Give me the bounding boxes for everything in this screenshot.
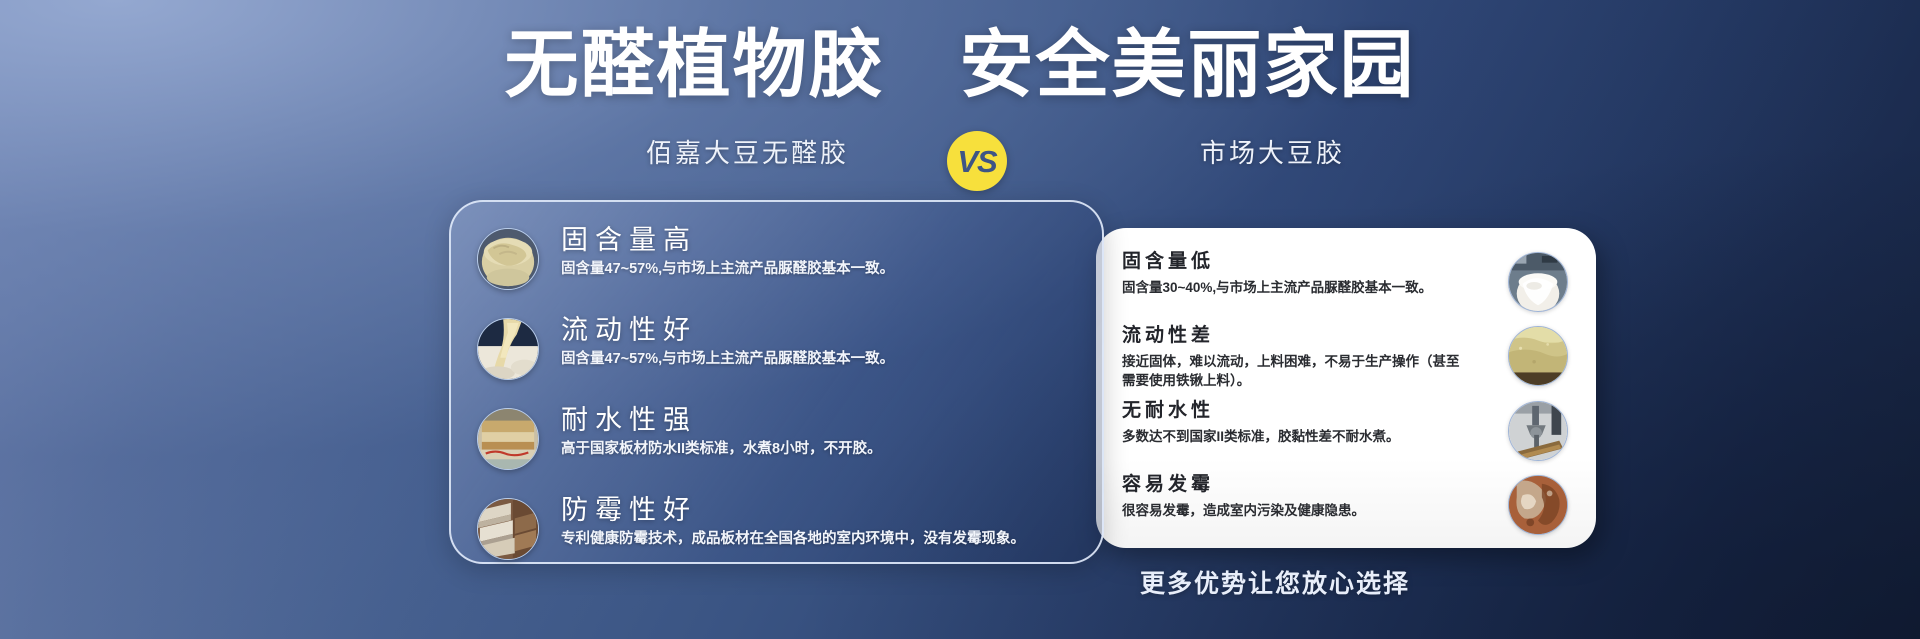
moldy-board-photo <box>1508 475 1568 535</box>
brand-item-title: 固含量高 <box>561 224 1082 256</box>
list-item: 防霉性好 专利健康防霉技术，成品板材在全国各地的室内环境中，没有发霉现象。 <box>477 494 1082 572</box>
competitor-item-title: 流动性差 <box>1122 324 1472 348</box>
list-item: 耐水性强 高于国家板材防水II类标准，水煮8小时，不开胶。 <box>477 404 1082 482</box>
water-boil-board-photo <box>477 408 539 470</box>
white-glue-bucket-photo <box>1508 252 1568 312</box>
subheader-left: 佰嘉大豆无醛胶 <box>646 133 849 170</box>
brand-item-desc: 专利健康防霉技术，成品板材在全国各地的室内环境中，没有发霉现象。 <box>561 529 1082 549</box>
competitor-item-desc: 接近固体，难以流动，上料困难，不易于生产操作（甚至需要使用铁锹上料）。 <box>1122 352 1472 391</box>
page-title: 无醛植物胶 安全美丽家园 <box>0 26 1920 104</box>
list-item: 无耐水性 多数达不到国家II类标准，胶黏性差不耐水煮。 <box>1122 399 1568 465</box>
flowing-glue-photo <box>477 318 539 380</box>
competitor-item-desc: 固含量30~40%,与市场上主流产品脲醛胶基本一致。 <box>1122 278 1472 298</box>
poster-canvas: 无醛植物胶 安全美丽家园 佰嘉大豆无醛胶 市场大豆胶 VS 固含量低 固含量30… <box>0 0 1920 639</box>
competitor-item-desc: 多数达不到国家II类标准，胶黏性差不耐水煮。 <box>1122 427 1472 447</box>
brand-item-title: 防霉性好 <box>561 494 1082 526</box>
comparison-panel-competitor: 固含量低 固含量30~40%,与市场上主流产品脲醛胶基本一致。 流动性差 接近固… <box>1096 228 1596 548</box>
competitor-item-desc: 很容易发霉，造成室内污染及健康隐患。 <box>1122 501 1472 521</box>
subheader-right: 市场大豆胶 <box>1200 133 1345 170</box>
bottom-caption: 更多优势让您放心选择 <box>1140 564 1410 600</box>
comparison-panel-brand: 固含量高 固含量47~57%,与市场上主流产品脲醛胶基本一致。 流动性好 固含量… <box>449 200 1104 564</box>
plywood-stack-photo <box>477 498 539 560</box>
list-item: 流动性差 接近固体，难以流动，上料困难，不易于生产操作（甚至需要使用铁锹上料）。 <box>1122 324 1568 391</box>
vs-badge: VS <box>947 131 1007 191</box>
testing-machine-photo <box>1508 401 1568 461</box>
solid-glue-powder-photo <box>1508 326 1568 386</box>
brand-item-desc: 高于国家板材防水II类标准，水煮8小时，不开胶。 <box>561 439 1082 459</box>
title-part-2: 安全美丽家园 <box>959 26 1415 104</box>
competitor-item-title: 固含量低 <box>1122 250 1472 274</box>
brand-item-title: 流动性好 <box>561 314 1082 346</box>
list-item: 流动性好 固含量47~57%,与市场上主流产品脲醛胶基本一致。 <box>477 314 1082 392</box>
competitor-item-title: 无耐水性 <box>1122 399 1472 423</box>
list-item: 固含量低 固含量30~40%,与市场上主流产品脲醛胶基本一致。 <box>1122 250 1568 316</box>
list-item: 容易发霉 很容易发霉，造成室内污染及健康隐患。 <box>1122 473 1568 539</box>
competitor-item-title: 容易发霉 <box>1122 473 1472 497</box>
title-part-1: 无醛植物胶 <box>505 26 885 104</box>
list-item: 固含量高 固含量47~57%,与市场上主流产品脲醛胶基本一致。 <box>477 224 1082 302</box>
glue-paste-bowl-photo <box>477 228 539 290</box>
brand-item-desc: 固含量47~57%,与市场上主流产品脲醛胶基本一致。 <box>561 349 1082 369</box>
brand-item-title: 耐水性强 <box>561 404 1082 436</box>
brand-item-desc: 固含量47~57%,与市场上主流产品脲醛胶基本一致。 <box>561 259 1082 279</box>
vs-badge-label: VS <box>957 146 996 177</box>
